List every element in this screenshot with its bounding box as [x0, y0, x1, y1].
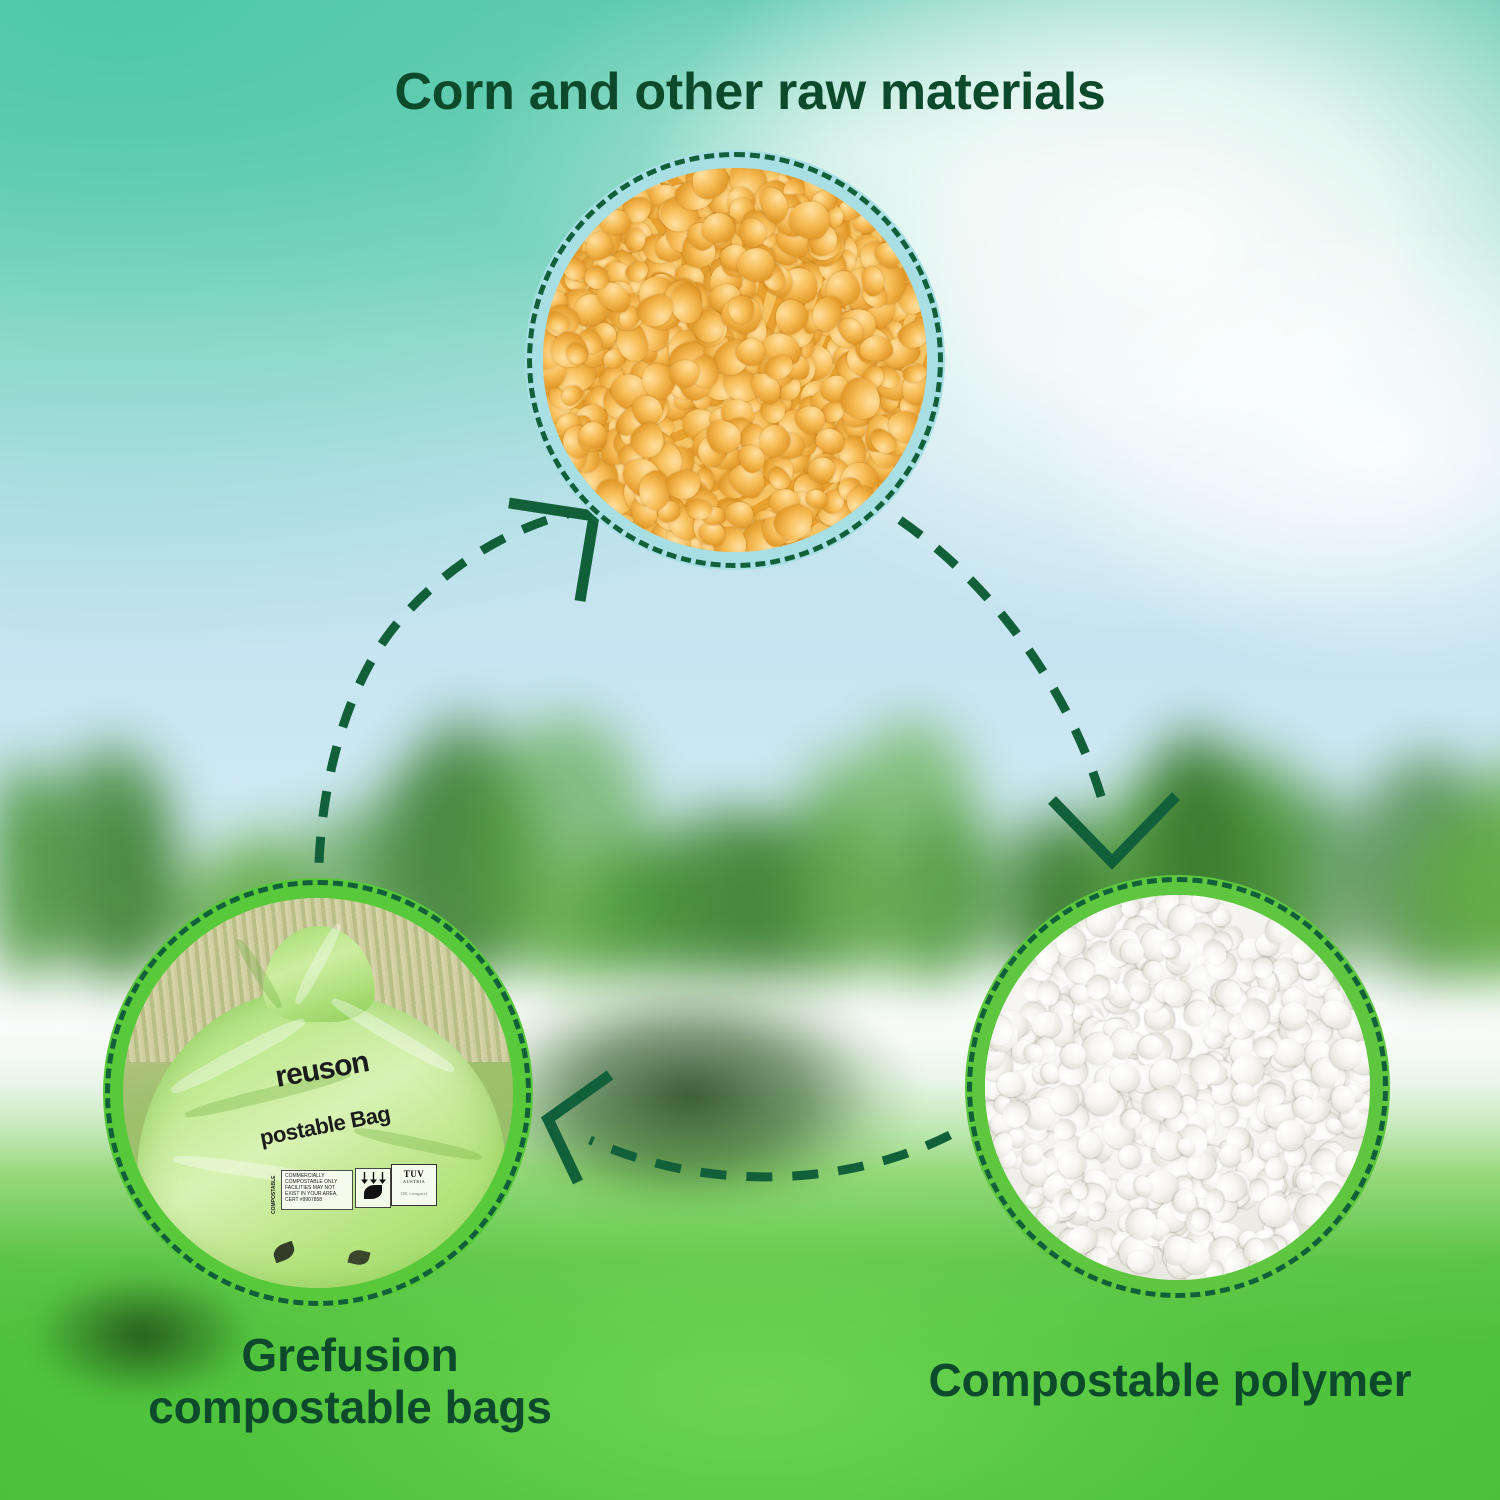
node-bags-label-line2: compostable bags [40, 1382, 660, 1434]
node-bags[interactable]: reuson postable Bag COMPOSTABLE COMMERCI… [103, 878, 533, 1308]
page-title: Corn and other raw materials [0, 62, 1500, 122]
node-polymer-label: Compostable polymer [850, 1355, 1490, 1407]
node-corn[interactable] [525, 150, 945, 570]
polymer-dashed-ring [967, 877, 1388, 1298]
node-bags-label-line1: Grefusion [40, 1330, 660, 1382]
infographic-canvas: Corn and other raw materials reuson post… [0, 0, 1500, 1500]
node-bags-label: Grefusion compostable bags [40, 1330, 660, 1433]
corn-dashed-ring [527, 152, 943, 568]
bags-dashed-ring [105, 880, 531, 1306]
node-polymer[interactable] [965, 875, 1390, 1300]
